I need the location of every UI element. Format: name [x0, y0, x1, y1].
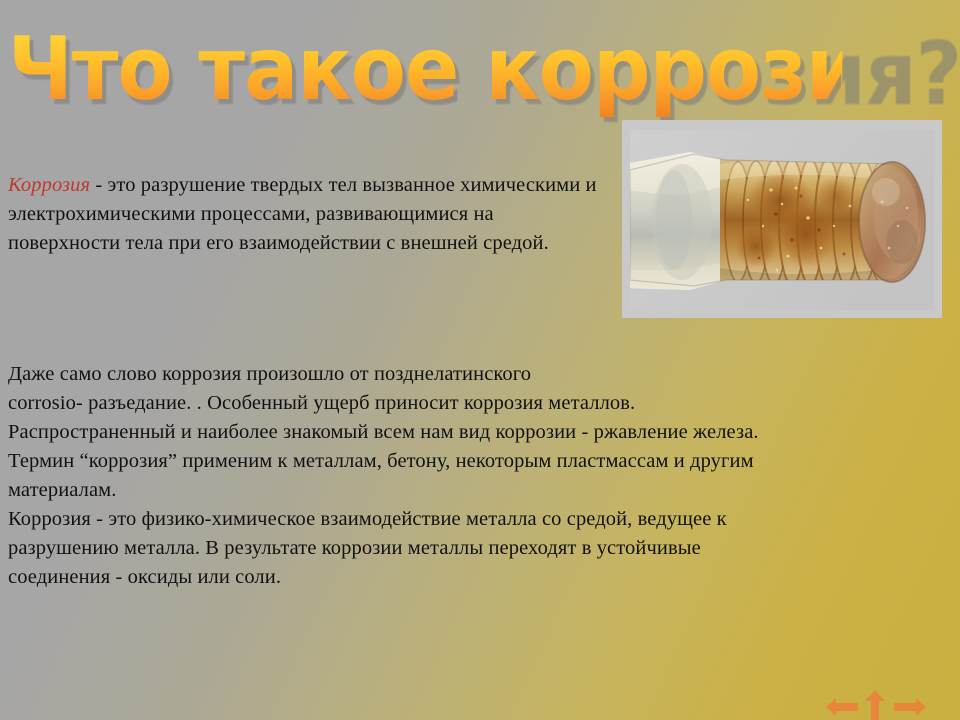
- etymology-line: материалам.: [8, 476, 952, 505]
- definition-separator: -: [90, 174, 107, 196]
- etymology-line: разрушению металла. В результате коррози…: [8, 534, 952, 563]
- arrow-right-icon[interactable]: [894, 697, 926, 717]
- definition-term: Коррозия: [8, 174, 90, 196]
- presentation-slide: Что такое коррозия? Что такое коррозия?: [0, 0, 960, 720]
- etymology-line: соединения - оксиды или соли.: [8, 563, 952, 592]
- etymology-line: Распространенный и наиболее знакомый все…: [8, 418, 952, 447]
- slide-navigation: [826, 692, 944, 720]
- arrow-up-icon[interactable]: [864, 690, 886, 720]
- rusted-bolt-illustration: [630, 130, 934, 310]
- slide-title-wordart: Что такое коррозия? Что такое коррозия?: [8, 16, 818, 116]
- bolt-photo-frame: [622, 120, 942, 318]
- arrow-left-icon[interactable]: [826, 697, 858, 717]
- etymology-line: Коррозия - это физико-химическое взаимод…: [8, 505, 952, 534]
- bolt-photo: [630, 130, 934, 310]
- etymology-line: corrosio- разъедание. . Особенный ущерб …: [8, 389, 952, 418]
- etymology-paragraph: Даже само слово коррозия произошло от по…: [8, 360, 952, 592]
- definition-paragraph: Коррозия - это разрушение твердых тел вы…: [8, 171, 608, 258]
- page-title: Что такое коррозия?: [8, 16, 842, 124]
- etymology-line: Термин “коррозия” применим к металлам, б…: [8, 447, 952, 476]
- etymology-line: Даже само слово коррозия произошло от по…: [8, 360, 952, 389]
